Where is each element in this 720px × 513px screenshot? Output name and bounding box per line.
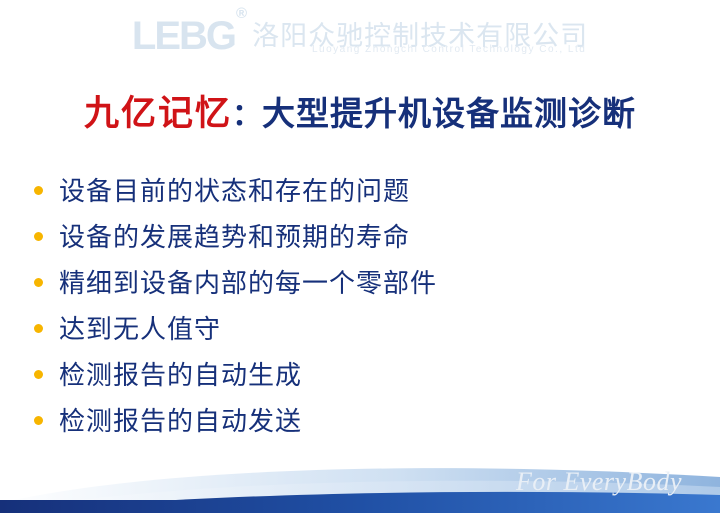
list-item-label: 检测报告的自动生成	[59, 356, 302, 396]
company-logo-icon: LEBG®	[132, 16, 244, 56]
page-title-highlight: 九亿记忆	[84, 94, 232, 134]
list-item: 设备目前的状态和存在的问题	[34, 172, 694, 218]
bullet-list: 设备目前的状态和存在的问题 设备的发展趋势和预期的寿命 精细到设备内部的每一个零…	[34, 172, 694, 448]
list-item-label: 设备目前的状态和存在的问题	[59, 172, 410, 212]
list-item: 检测报告的自动发送	[34, 402, 694, 448]
registered-trademark-icon: ®	[236, 5, 245, 22]
list-item-label: 检测报告的自动发送	[59, 402, 302, 442]
bullet-dot-icon	[34, 324, 43, 333]
company-name-en: Luoyang Zhongchi Control Technology Co.,…	[312, 44, 586, 55]
bullet-dot-icon	[34, 416, 43, 425]
company-watermark: LEBG® 洛阳众驰控制技术有限公司 Luoyang Zhongchi Cont…	[0, 10, 720, 62]
list-item: 检测报告的自动生成	[34, 356, 694, 402]
list-item-label: 达到无人值守	[59, 310, 221, 350]
logo-text: LEBG	[132, 14, 235, 58]
bullet-dot-icon	[34, 278, 43, 287]
list-item: 精细到设备内部的每一个零部件	[34, 264, 694, 310]
list-item-label: 设备的发展趋势和预期的寿命	[59, 218, 410, 258]
page-title: 九亿记忆：大型提升机设备监测诊断	[0, 85, 720, 136]
company-name-cn: 洛阳众驰控制技术有限公司	[252, 23, 588, 50]
footer-slogan: For EveryBody	[516, 467, 682, 497]
bullet-dot-icon	[34, 370, 43, 379]
list-item-label: 精细到设备内部的每一个零部件	[59, 264, 437, 304]
page-title-rest: 大型提升机设备监测诊断	[262, 94, 636, 133]
list-item: 达到无人值守	[34, 310, 694, 356]
footer-decoration: For EveryBody	[0, 451, 720, 513]
bullet-dot-icon	[34, 232, 43, 241]
list-item: 设备的发展趋势和预期的寿命	[34, 218, 694, 264]
bullet-dot-icon	[34, 186, 43, 195]
slide: LEBG® 洛阳众驰控制技术有限公司 Luoyang Zhongchi Cont…	[0, 0, 720, 513]
page-title-separator: ：	[232, 98, 262, 133]
